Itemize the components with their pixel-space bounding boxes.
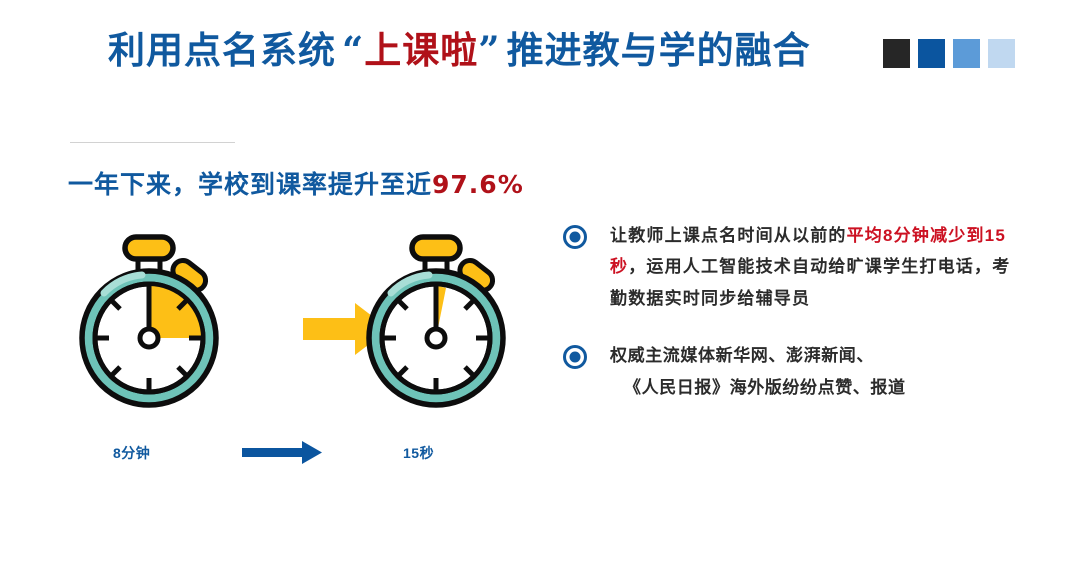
title-part-2: 推进教与学的融合 [507,30,811,71]
title-highlight: 上课啦 [364,30,478,71]
color-swatch-group [883,39,1015,68]
swatch-light-blue [988,39,1015,68]
slide-root: 利用点名系统“上课啦”推进教与学的融合 一年下来，学校到课率提升至近97.6% [0,0,1075,572]
title-part-1: 利用点名系统 [108,30,336,71]
bullet-target-icon [562,224,588,255]
swatch-mid-blue [953,39,980,68]
stopwatch-illustration [60,225,530,475]
bullet-2-line-1: 权威主流媒体新华网、澎湃新闻、 [610,346,874,365]
bullet-item-2: 权威主流媒体新华网、澎湃新闻、《人民日报》海外版纷纷点赞、报道 [562,340,1022,403]
bullet-list: 让教师上课点名时间从以前的平均8分钟减少到15秒，运用人工智能技术自动给旷课学生… [562,220,1022,429]
quote-open: “ [342,28,364,72]
blue-right-arrow [242,441,324,465]
page-title: 利用点名系统“上课啦”推进教与学的融合 [108,26,811,75]
bullet-target-icon [562,344,588,375]
caption-before: 8分钟 [113,443,150,463]
stopwatch-15-seconds [357,225,527,410]
bullet-1-seg-2: ，运用人工智能技术自动给旷课学生打电话，考勤数据实时同步给辅导员 [610,257,1010,307]
section-divider [70,142,235,143]
subtitle-number: 97.6% [432,170,524,199]
section-subtitle: 一年下来，学校到课率提升至近97.6% [68,165,524,201]
bullet-text-1: 让教师上课点名时间从以前的平均8分钟减少到15秒，运用人工智能技术自动给旷课学生… [610,220,1022,314]
quote-close: ” [478,28,500,72]
bullet-1-seg-1: 让教师上课点名时间从以前的 [610,226,847,245]
subtitle-text: 一年下来，学校到课率提升至近 [68,171,432,199]
swatch-blue [918,39,945,68]
caption-after: 15秒 [403,443,434,463]
swatch-dark [883,39,910,68]
stopwatch-8-minutes [70,225,240,410]
bullet-text-2: 权威主流媒体新华网、澎湃新闻、《人民日报》海外版纷纷点赞、报道 [610,340,906,403]
bullet-item-1: 让教师上课点名时间从以前的平均8分钟减少到15秒，运用人工智能技术自动给旷课学生… [562,220,1022,314]
bullet-2-line-2: 《人民日报》海外版纷纷点赞、报道 [624,378,906,397]
